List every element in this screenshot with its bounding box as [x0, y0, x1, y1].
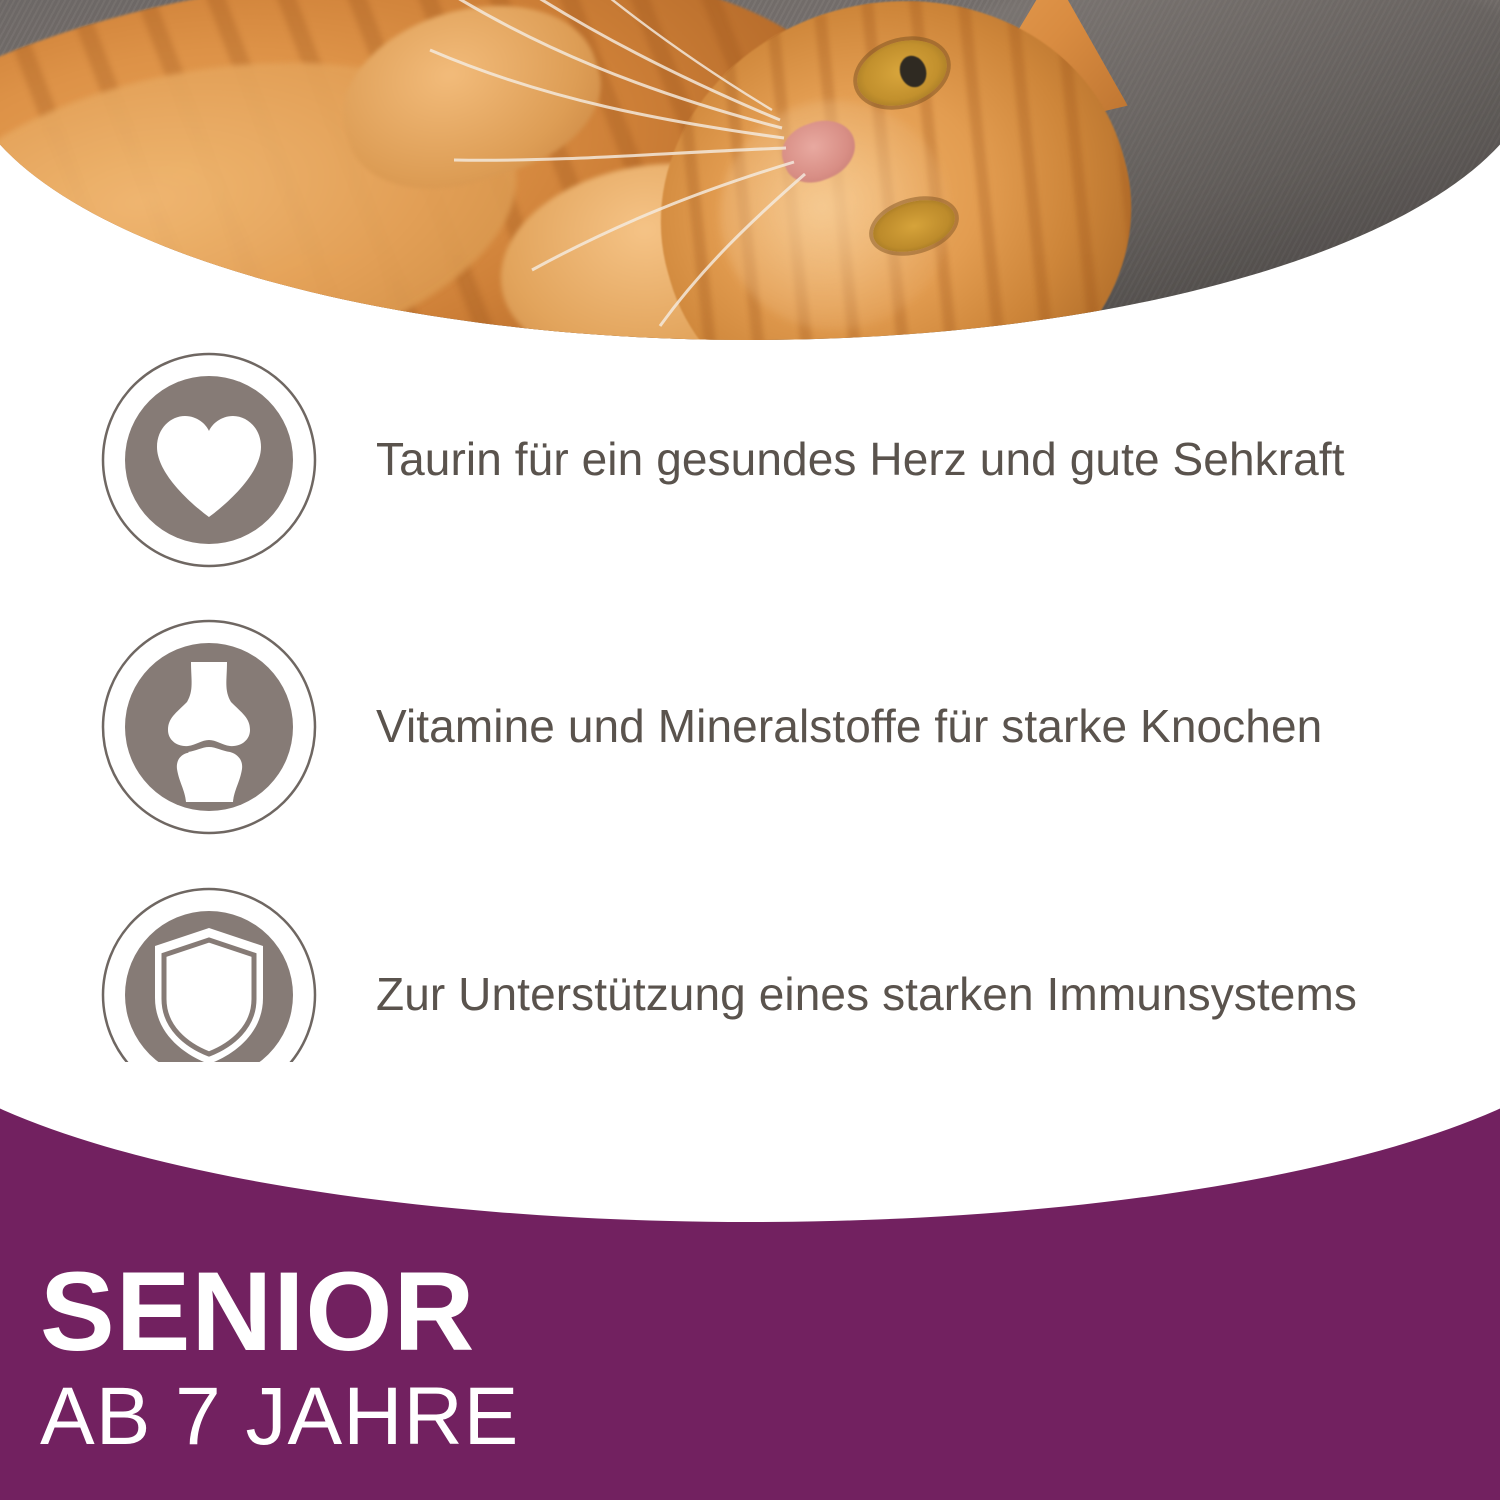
cat-photograph [0, 0, 1500, 340]
benefits-list: Taurin für ein gesundes Herz und gute Se… [0, 330, 1500, 1070]
banner-subtitle: AB 7 JAHRE [40, 1376, 519, 1458]
benefit-item: Vitamine und Mineralstoffe für starke Kn… [0, 597, 1500, 857]
hero-image-clip [0, 0, 1500, 340]
banner-text-block: SENIOR AB 7 JAHRE [40, 1256, 519, 1458]
banner-title: SENIOR [40, 1256, 519, 1368]
hero-image [0, 0, 1500, 340]
cat-whiskers [0, 0, 1500, 340]
benefit-item: Taurin für ein gesundes Herz und gute Se… [0, 330, 1500, 590]
benefit-label: Zur Unterstützung eines starken Immunsys… [376, 966, 1480, 1024]
bone-joint-icon [100, 618, 318, 836]
benefit-label: Vitamine und Mineralstoffe für starke Kn… [376, 698, 1480, 756]
heart-icon [100, 351, 318, 569]
age-banner: SENIOR AB 7 JAHRE [0, 1062, 1500, 1500]
banner-curve-notch [0, 1062, 1500, 1222]
product-feature-panel: Taurin für ein gesundes Herz und gute Se… [0, 0, 1500, 1500]
benefit-label: Taurin für ein gesundes Herz und gute Se… [376, 431, 1480, 489]
